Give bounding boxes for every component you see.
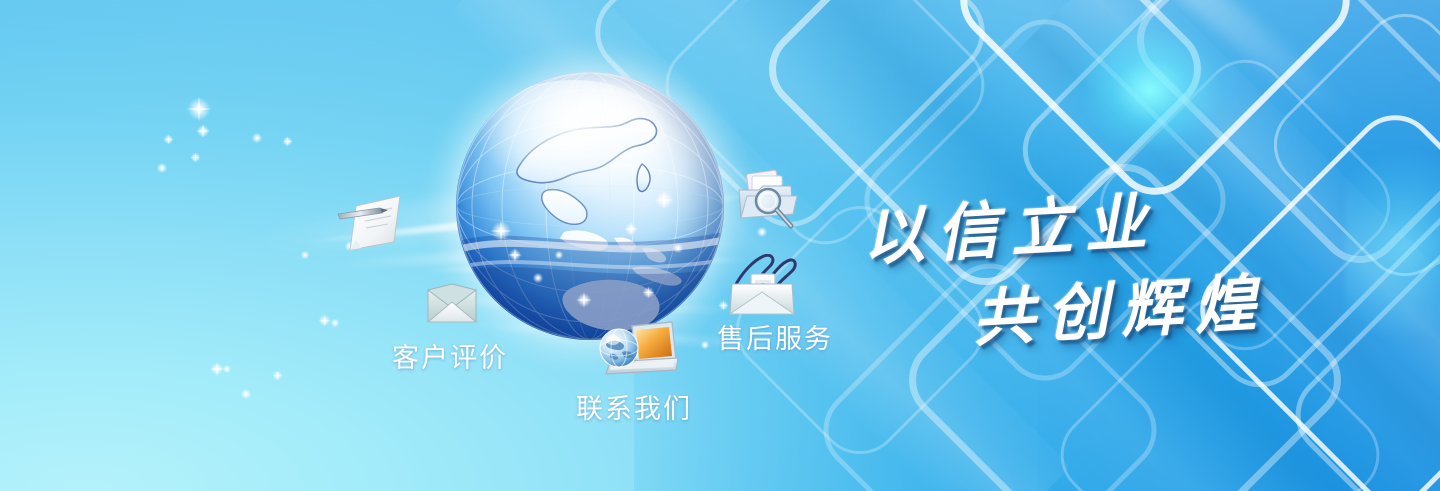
folder-magnifier-icon [735, 168, 799, 230]
id-card-envelope-icon [724, 254, 800, 318]
globe-sparkles [456, 72, 724, 340]
cyan-glow-highlight [1060, 10, 1240, 170]
envelope-icon [424, 280, 480, 326]
laptop-globe-icon [592, 318, 680, 384]
world-globe [456, 72, 724, 340]
cyan-glow-highlight [1345, 150, 1440, 340]
service-label-contact-us[interactable]: 联系我们 [576, 387, 692, 426]
document-pen-icon [336, 190, 412, 256]
service-label-after-sales[interactable]: 售后服务 [717, 317, 833, 356]
globe-sphere [456, 72, 724, 340]
service-label-customer-review[interactable]: 客户评价 [392, 336, 508, 375]
slogan-line-2: 共创辉煌 [970, 252, 1271, 358]
promo-banner: 客户评价 联系我们 售后服务 以信立业 共创辉煌 [0, 0, 1440, 491]
